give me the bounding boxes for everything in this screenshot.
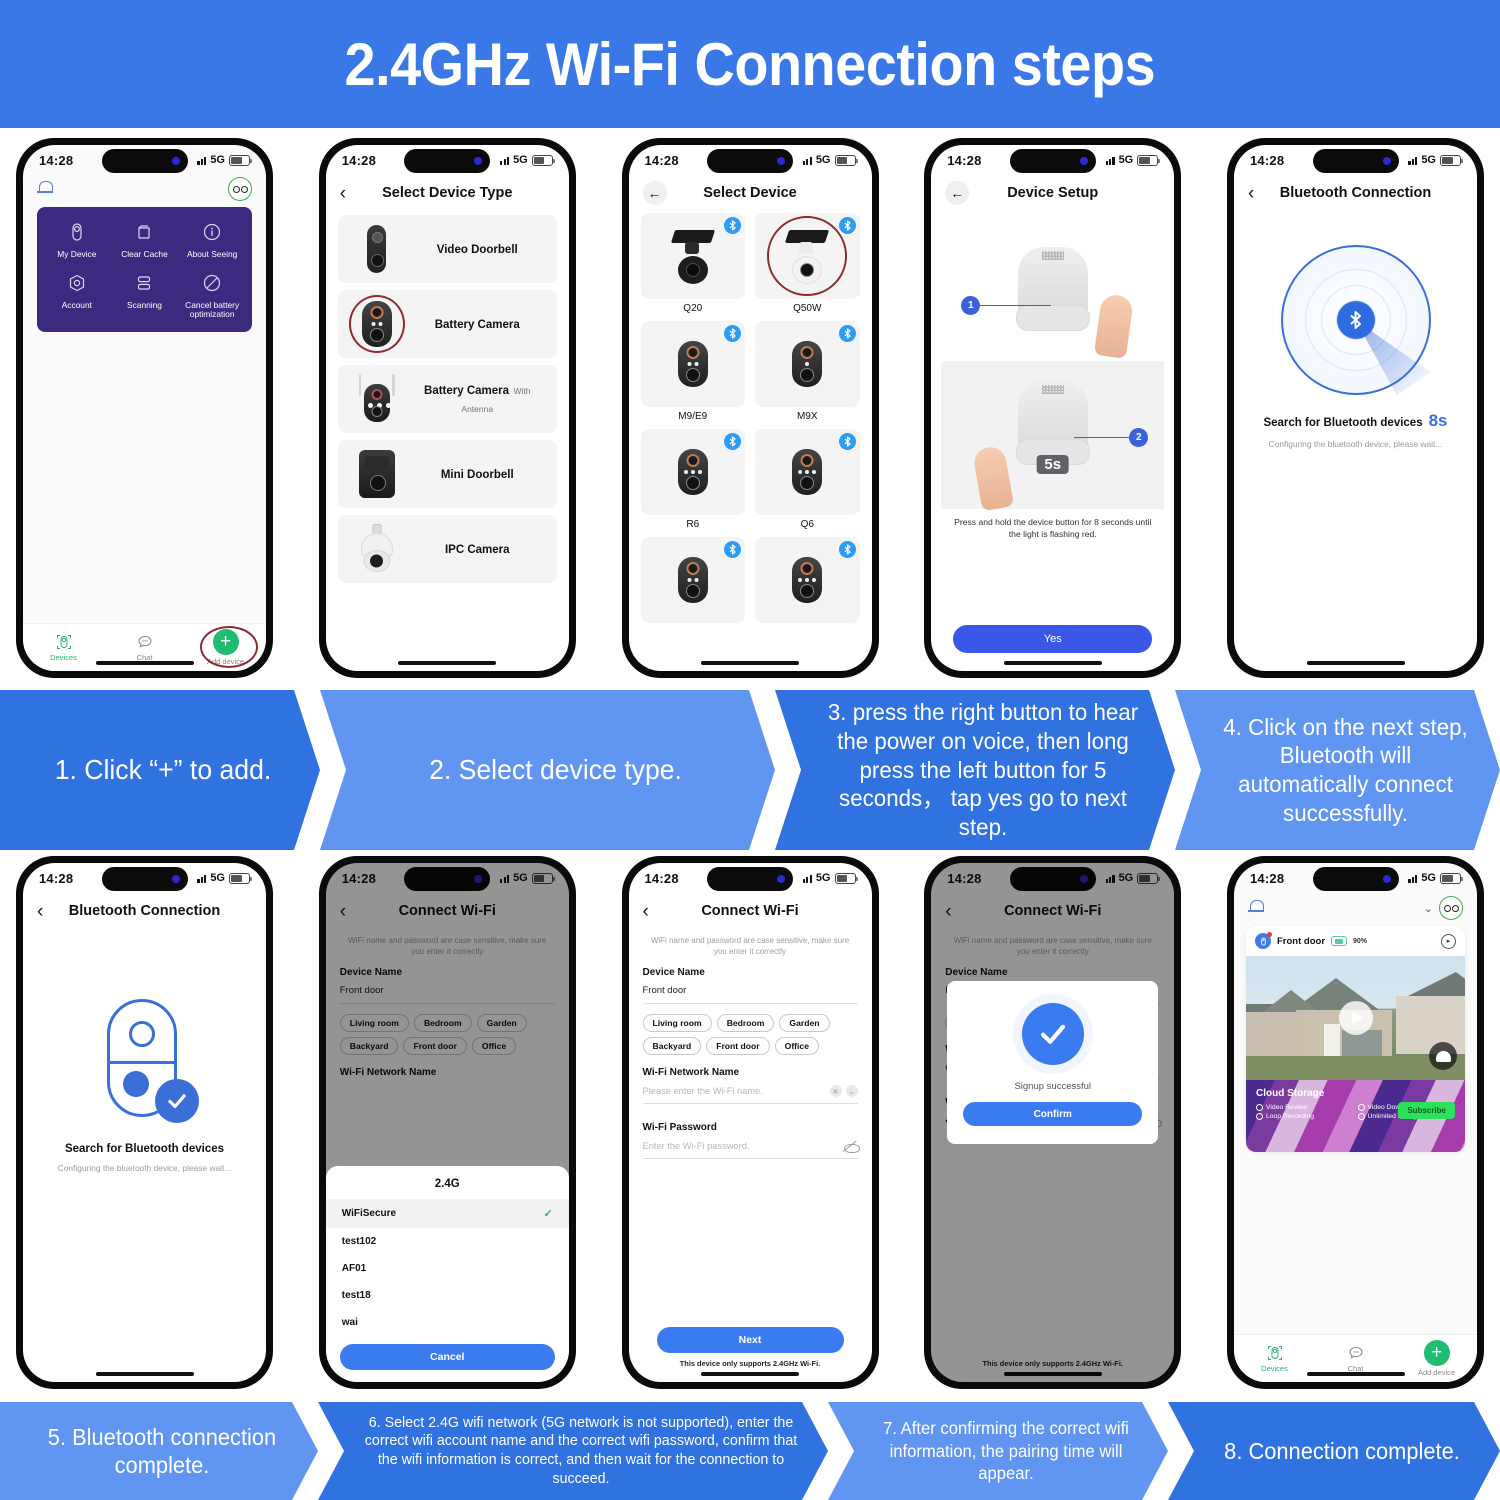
camera-feed-preview[interactable]	[1246, 956, 1465, 1080]
home-header	[23, 175, 266, 207]
screen-connect-wifi-picker: 14:28 5G ‹ Connect Wi-Fi WiFi name and p…	[326, 863, 569, 1382]
clear-icon[interactable]: ✕	[830, 1085, 842, 1097]
status-time: 14:28	[39, 153, 73, 168]
nav-bar: ‹ Bluetooth Connection	[23, 893, 266, 929]
device-label: M9X	[797, 411, 818, 422]
step-arrow-3: 3. press the right button to hear the po…	[775, 690, 1175, 850]
network-label: 5G	[210, 154, 225, 166]
chat-icon	[136, 634, 153, 651]
step-arrow-6: 6. Select 2.4G wifi network (5G network …	[318, 1402, 828, 1500]
status-bar: 14:28 5G	[1234, 145, 1477, 175]
check-icon	[1022, 1003, 1084, 1065]
step-badge-1: 1	[961, 296, 980, 315]
step-text: 5. Bluetooth connection complete.	[27, 1423, 297, 1479]
wifi-name-placeholder: Please enter the Wi-Fi name.	[643, 1086, 826, 1096]
search-status-text: Search for Bluetooth devices	[1263, 417, 1422, 429]
phone-mockup-2: 14:28 5G ‹ Select Device Type Video D	[319, 138, 576, 678]
battery-icon	[1440, 155, 1461, 166]
status-time: 14:28	[645, 871, 679, 886]
phone-mockup-5: 14:28 5G ‹ Bluetooth Connection	[1227, 138, 1484, 678]
step-text: 1. Click “+” to add.	[27, 753, 299, 787]
device-card-8[interactable]	[755, 537, 860, 623]
tab-devices[interactable]: Devices	[23, 634, 104, 662]
tab-label: Add device	[1418, 1368, 1455, 1377]
room-chip-list: Living room Bedroom Garden Backyard Fron…	[643, 1014, 858, 1055]
device-thumb	[641, 537, 746, 623]
device-thumb	[641, 429, 746, 515]
account-icon	[64, 270, 90, 296]
battery-percent: 90%	[1353, 938, 1367, 945]
battery-badge	[1331, 936, 1347, 946]
signal-icon	[500, 155, 509, 165]
cloud-storage-title: Cloud Storage	[1256, 1088, 1455, 1099]
dynamic-island	[1313, 867, 1399, 891]
device-thumb	[755, 429, 860, 515]
device-card-q50w[interactable]: Q50W	[755, 213, 860, 314]
device-card-q20[interactable]: Q20	[641, 213, 746, 314]
battery-icon	[1440, 873, 1461, 884]
wifi-option[interactable]: wai	[326, 1309, 569, 1336]
bluetooth-icon	[839, 325, 856, 342]
battery-icon	[229, 873, 250, 884]
network-label: 5G	[816, 872, 831, 884]
status-time: 14:28	[1250, 153, 1284, 168]
wifi-name-label: Wi-Fi Network Name	[643, 1067, 858, 1078]
device-thumb	[641, 321, 746, 407]
search-status: Search for Bluetooth devices	[65, 1143, 224, 1155]
back-icon[interactable]: ←	[945, 181, 969, 205]
phone-mockup-6: 14:28 5G ‹ Bluetooth Connection	[16, 856, 273, 1389]
device-card-m9x[interactable]: M9X	[755, 321, 860, 422]
battery-icon	[1137, 155, 1158, 166]
camera-icon	[1255, 933, 1271, 949]
home-indicator	[1307, 1372, 1405, 1376]
step-text: 7. After confirming the correct wifi inf…	[865, 1417, 1146, 1485]
step-arrow-4: 4. Click on the next step, Bluetooth wil…	[1175, 690, 1500, 850]
search-status-text: Search for Bluetooth devices	[65, 1143, 224, 1155]
device-card: Front door 90% ▸	[1246, 926, 1465, 1152]
step-badge-2: 2	[1129, 428, 1148, 447]
menu-label: Cancel battery optimization	[178, 301, 246, 320]
trash-icon	[131, 219, 157, 245]
wifi-password-placeholder: Enter the Wi-Fi password.	[643, 1141, 844, 1151]
back-icon[interactable]: ‹	[643, 902, 649, 921]
step-text: 6. Select 2.4G wifi network (5G network …	[360, 1414, 803, 1489]
playback-icon[interactable]: ▸	[1441, 934, 1456, 949]
cloud-feature: Loop Recording	[1256, 1113, 1354, 1120]
device-card-m9e9[interactable]: M9/E9	[641, 321, 746, 422]
highlight-ring-battery-camera	[349, 295, 405, 353]
battery-icon	[835, 873, 856, 884]
highlight-ring-add-device	[200, 626, 258, 668]
device-card-r6[interactable]: R6	[641, 429, 746, 530]
device-card-header: Front door 90% ▸	[1246, 926, 1465, 956]
page-title: Select Device Type	[326, 185, 569, 201]
phone-row-bottom: 14:28 5G ‹ Bluetooth Connection	[0, 850, 1500, 1402]
quick-menu-panel: My Device Clear Cache About Seeing Accou…	[37, 207, 252, 332]
status-bar: 14:28 5G	[931, 145, 1174, 175]
room-chip[interactable]: Backyard	[643, 1037, 702, 1055]
status-time: 14:28	[342, 153, 376, 168]
device-label: Q6	[801, 519, 814, 530]
home-indicator	[1004, 661, 1102, 665]
nav-bar: ‹ Connect Wi-Fi	[629, 893, 872, 929]
network-label: 5G	[816, 154, 831, 166]
home-indicator	[96, 661, 194, 665]
device-card-7[interactable]	[641, 537, 746, 623]
bluetooth-icon	[839, 433, 856, 450]
dynamic-island	[707, 867, 793, 891]
room-chip[interactable]: Office	[775, 1037, 819, 1055]
status-bar: 14:28 5G	[23, 145, 266, 175]
success-message: Signup successful	[1014, 1081, 1091, 1092]
dynamic-island	[1313, 149, 1399, 173]
battery-icon	[229, 155, 250, 166]
setup-step-2-image: 2 5s	[941, 361, 1164, 509]
screen-device-setup: 14:28 5G ← Device Setup	[931, 145, 1174, 671]
wifi-option-label: wai	[342, 1317, 358, 1328]
step-text: 3. press the right button to hear the po…	[814, 698, 1152, 841]
device-grid: Q20 Q50W	[629, 211, 872, 623]
back-icon[interactable]: ‹	[37, 902, 43, 921]
wifi-option-label: test18	[342, 1290, 371, 1301]
ptz-control-icon[interactable]	[1429, 1042, 1457, 1070]
network-label: 5G	[1421, 872, 1436, 884]
phone-mockup-9: 14:28 5G ‹ Connect Wi-Fi WiFi name and p…	[924, 856, 1181, 1389]
list-item[interactable]: Mini Doorbell	[338, 440, 557, 508]
bluetooth-icon	[724, 325, 741, 342]
bluetooth-icon	[724, 217, 741, 234]
wifi-password-label: Wi-Fi Password	[643, 1122, 858, 1133]
step-arrow-5: 5. Bluetooth connection complete.	[0, 1402, 318, 1500]
download-icon	[1358, 1104, 1365, 1111]
nav-bar: ‹ Select Device Type	[326, 175, 569, 211]
wifi-hint: WiFi name and password are case sensitiv…	[643, 929, 858, 967]
chevron-down-icon[interactable]: ⌄	[846, 1085, 858, 1097]
step-arrow-7: 7. After confirming the correct wifi inf…	[828, 1402, 1168, 1500]
confirm-button[interactable]: Confirm	[963, 1102, 1142, 1126]
battery-icon	[835, 155, 856, 166]
network-label: 5G	[513, 154, 528, 166]
menu-label: Scanning	[127, 301, 162, 311]
sheet-title: 2.4G	[326, 1175, 569, 1199]
signal-icon	[1106, 155, 1115, 165]
clock-icon	[1256, 1104, 1263, 1111]
device-label: R6	[686, 519, 699, 530]
tab-add-device[interactable]: + Add device	[1396, 1340, 1477, 1377]
nav-bar: ← Select Device	[629, 175, 872, 211]
wifi-form: WiFi name and password are case sensitiv…	[629, 929, 872, 1382]
screen-select-device: 14:28 5G ← Select Device	[629, 145, 872, 671]
finger-illustration	[972, 445, 1014, 512]
device-type-name: Video Doorbell	[437, 244, 518, 256]
menu-label: Clear Cache	[121, 250, 168, 260]
page-title: Bluetooth Connection	[1234, 185, 1477, 201]
menu-item-scanning[interactable]: Scanning	[111, 270, 179, 320]
list-item[interactable]: Battery Camera	[338, 290, 557, 358]
status-bar: 14:28 5G	[1234, 863, 1477, 893]
step-text: 4. Click on the next step, Bluetooth wil…	[1212, 713, 1479, 828]
check-icon: ✓	[544, 1207, 553, 1220]
device-type-list: Video Doorbell Battery Camera Battery Ca…	[326, 211, 569, 583]
subscribe-button[interactable]: Subscribe	[1398, 1102, 1455, 1119]
finger-illustration	[1094, 293, 1134, 359]
room-chip[interactable]: Living room	[643, 1014, 712, 1032]
network-label: 5G	[210, 872, 225, 884]
bluetooth-icon	[839, 217, 856, 234]
device-thumb	[641, 213, 746, 299]
scanning-icon	[131, 270, 157, 296]
status-time: 14:28	[645, 153, 679, 168]
screen-select-device-type: 14:28 5G ‹ Select Device Type Video D	[326, 145, 569, 671]
steps-band-bottom: 5. Bluetooth connection complete. 6. Sel…	[0, 1402, 1500, 1500]
phone-mockup-1: 14:28 5G My Device	[16, 138, 273, 678]
callout-line	[1074, 437, 1130, 438]
step-arrow-2: 2. Select device type.	[320, 690, 775, 850]
wifi-option[interactable]: test102	[326, 1228, 569, 1255]
loop-icon	[1256, 1113, 1263, 1120]
screen-bluetooth-connected: 14:28 5G ‹ Bluetooth Connection	[23, 863, 266, 1382]
device-icon	[64, 219, 90, 245]
devices-icon	[55, 634, 72, 651]
screen-signup-success: 14:28 5G ‹ Connect Wi-Fi WiFi name and p…	[931, 863, 1174, 1382]
device-thumb-mini-doorbell	[344, 443, 410, 505]
device-label: Q50W	[793, 303, 821, 314]
screen-home: 14:28 5G My Device	[23, 145, 266, 671]
menu-item-about[interactable]: About Seeing	[178, 219, 246, 260]
step-arrow-8: 8. Connection complete.	[1168, 1402, 1500, 1500]
wifi-picker-sheet: 2.4G WiFiSecure ✓ test102 AF01 test18	[326, 1166, 569, 1382]
camera-illustration	[1018, 247, 1088, 327]
wifi-option-label: WiFiSecure	[342, 1208, 396, 1219]
step-text: 2. Select device type.	[360, 753, 750, 787]
tab-devices[interactable]: Devices	[1234, 1345, 1315, 1373]
chat-icon	[1347, 1345, 1364, 1362]
signal-icon	[803, 155, 812, 165]
menu-label: Account	[62, 301, 92, 311]
phone-mockup-10: 14:28 5G ⌄	[1227, 856, 1484, 1389]
bell-icon[interactable]	[1248, 899, 1264, 917]
device-name-label: Device Name	[643, 967, 858, 978]
device-thumb-doorbell	[344, 218, 410, 280]
status-bar: 14:28 5G	[629, 145, 872, 175]
cloud-icon	[1358, 1113, 1365, 1120]
wifi-option[interactable]: test18	[326, 1282, 569, 1309]
page-title: Connect Wi-Fi	[629, 903, 872, 919]
countdown-seconds: 8s	[1429, 411, 1448, 431]
next-button[interactable]: Next	[657, 1327, 844, 1353]
tab-chat[interactable]: Chat	[104, 634, 185, 662]
page-title: 2.4GHz Wi-Fi Connection steps	[345, 30, 1156, 99]
play-button[interactable]	[1339, 1001, 1373, 1035]
steps-band-top: 1. Click “+” to add. 2. Select device ty…	[0, 690, 1500, 850]
device-label: M9/E9	[678, 411, 707, 422]
search-subtext: Configuring the bluetooth device, please…	[58, 1163, 232, 1173]
room-chip[interactable]: Front door	[706, 1037, 769, 1055]
bluetooth-success-panel: Search for Bluetooth devices Configuring…	[23, 929, 266, 1382]
device-type-name: IPC Camera	[445, 544, 510, 556]
check-icon	[155, 1079, 199, 1123]
wifi-option[interactable]: AF01	[326, 1255, 569, 1282]
device-thumb-antenna-camera	[344, 368, 410, 430]
room-chip[interactable]: Bedroom	[717, 1014, 775, 1032]
device-name: Front door	[1277, 936, 1325, 947]
home-indicator	[96, 1372, 194, 1376]
signal-icon	[1408, 873, 1417, 883]
no-battery-icon	[199, 270, 225, 296]
status-time: 14:28	[1250, 871, 1284, 886]
signal-icon	[803, 873, 812, 883]
phone-mockup-3: 14:28 5G ← Select Device	[622, 138, 879, 678]
menu-label: About Seeing	[187, 250, 237, 260]
tab-label: Devices	[50, 653, 77, 662]
home-indicator	[701, 1372, 799, 1376]
phone-row-top: 14:28 5G My Device	[0, 128, 1500, 690]
wifi-option-selected[interactable]: WiFiSecure ✓	[326, 1199, 569, 1228]
phone-mockup-8: 14:28 5G ‹ Connect Wi-Fi WiFi name and p…	[622, 856, 879, 1389]
dynamic-island	[1010, 149, 1096, 173]
status-time: 14:28	[947, 153, 981, 168]
back-icon[interactable]: ‹	[1248, 184, 1254, 203]
wifi-disclaimer: This device only supports 2.4GHz Wi-Fi.	[643, 1359, 858, 1368]
bluetooth-icon	[1337, 301, 1375, 339]
bell-icon[interactable]	[37, 180, 53, 198]
menu-item-account[interactable]: Account	[43, 270, 111, 320]
dynamic-island	[707, 149, 793, 173]
list-item[interactable]: Battery Camera With Antenna	[338, 365, 557, 433]
device-connected-illustration	[85, 999, 205, 1139]
nav-bar: ‹ Bluetooth Connection	[1234, 175, 1477, 211]
screen-connect-wifi-form: 14:28 5G ‹ Connect Wi-Fi WiFi name and p…	[629, 863, 872, 1382]
device-thumb	[755, 321, 860, 407]
menu-item-cancel-battery-optimization[interactable]: Cancel battery optimization	[178, 270, 246, 320]
device-type-name: Battery Camera	[424, 385, 509, 397]
home-indicator	[398, 661, 496, 665]
radar-animation	[1281, 245, 1431, 395]
nav-bar: ← Device Setup	[931, 175, 1174, 211]
battery-icon	[532, 155, 553, 166]
signal-icon	[197, 873, 206, 883]
wifi-option-label: AF01	[342, 1263, 366, 1274]
search-subtext: Configuring the bluetooth device, please…	[1269, 439, 1443, 449]
network-label: 5G	[1119, 154, 1134, 166]
bluetooth-search-panel: Search for Bluetooth devices 8s Configur…	[1234, 211, 1477, 671]
phone-mockup-4: 14:28 5G ← Device Setup	[924, 138, 1181, 678]
screen-device-live: 14:28 5G ⌄	[1234, 863, 1477, 1382]
setup-step-1-image: 1	[941, 213, 1164, 361]
eye-off-icon[interactable]	[844, 1140, 858, 1152]
setup-illustrations: 1 2 5s Press and hold the device button …	[931, 211, 1174, 671]
menu-item-my-device[interactable]: My Device	[43, 219, 111, 260]
device-thumb	[755, 537, 860, 623]
menu-item-clear-cache[interactable]: Clear Cache	[111, 219, 179, 260]
dynamic-island	[102, 867, 188, 891]
page-header: 2.4GHz Wi-Fi Connection steps	[0, 0, 1500, 128]
owl-logo-icon[interactable]	[228, 177, 252, 201]
cancel-button[interactable]: Cancel	[340, 1344, 555, 1370]
owl-logo-icon[interactable]	[1439, 896, 1463, 920]
status-bar: 14:28 5G	[326, 145, 569, 175]
info-icon	[199, 219, 225, 245]
home-indicator	[701, 661, 799, 665]
network-label: 5G	[1421, 154, 1436, 166]
wifi-option-label: test102	[342, 1236, 376, 1247]
cloud-feature: Video Review	[1256, 1104, 1354, 1111]
hold-duration-label: 5s	[1036, 455, 1069, 474]
yes-button[interactable]: Yes	[953, 625, 1152, 653]
bluetooth-icon	[724, 433, 741, 450]
bluetooth-icon	[724, 541, 741, 558]
signal-icon	[197, 155, 206, 165]
room-chip[interactable]: Garden	[779, 1014, 829, 1032]
page-title: Bluetooth Connection	[23, 903, 266, 919]
step-arrow-1: 1. Click “+” to add.	[0, 690, 320, 850]
screen-bluetooth-searching: 14:28 5G ‹ Bluetooth Connection	[1234, 145, 1477, 671]
menu-label: My Device	[57, 250, 96, 260]
phone-mockup-7: 14:28 5G ‹ Connect Wi-Fi WiFi name and p…	[319, 856, 576, 1389]
step-text: 8. Connection complete.	[1205, 1437, 1479, 1465]
highlight-ring-q50w	[767, 216, 847, 296]
devices-icon	[1266, 1345, 1283, 1362]
infographic-page: 2.4GHz Wi-Fi Connection steps 14:28 5G	[0, 0, 1500, 1500]
home-header: ⌄	[1234, 893, 1477, 926]
status-bar: 14:28 5G	[23, 863, 266, 893]
device-label: Q20	[683, 303, 702, 314]
home-indicator	[1307, 661, 1405, 665]
device-thumb-ipc-camera	[344, 518, 410, 580]
device-type-name: Mini Doorbell	[441, 469, 514, 481]
bluetooth-icon	[839, 541, 856, 558]
list-item[interactable]: IPC Camera	[338, 515, 557, 583]
camera-illustration	[1018, 381, 1088, 461]
plus-icon[interactable]: +	[1424, 1340, 1450, 1366]
back-icon[interactable]: ←	[643, 181, 667, 205]
device-type-name: Battery Camera	[435, 319, 520, 331]
setup-instruction: Press and hold the device button for 8 s…	[941, 509, 1164, 540]
cloud-storage-banner[interactable]: Cloud Storage Video Review Video Downloa…	[1246, 1080, 1465, 1152]
success-modal: Signup successful Confirm	[947, 981, 1158, 1144]
list-item[interactable]: Video Doorbell	[338, 215, 557, 283]
search-status: Search for Bluetooth devices 8s	[1263, 411, 1447, 431]
device-name-input[interactable]: Front door	[643, 985, 858, 1004]
device-card-q6[interactable]: Q6	[755, 429, 860, 530]
tab-chat[interactable]: Chat	[1315, 1345, 1396, 1373]
status-time: 14:28	[39, 871, 73, 886]
dynamic-island	[102, 149, 188, 173]
chevron-down-icon[interactable]: ⌄	[1424, 902, 1433, 915]
signal-icon	[1408, 155, 1417, 165]
callout-line	[979, 305, 1051, 306]
back-icon[interactable]: ‹	[340, 184, 346, 203]
status-bar: 14:28 5G	[629, 863, 872, 893]
wifi-password-field[interactable]: Enter the Wi-Fi password.	[643, 1140, 858, 1159]
dynamic-island	[404, 149, 490, 173]
tab-label: Devices	[1261, 1364, 1288, 1373]
wifi-name-field[interactable]: Please enter the Wi-Fi name. ✕ ⌄	[643, 1085, 858, 1104]
device-thumb	[755, 213, 860, 299]
